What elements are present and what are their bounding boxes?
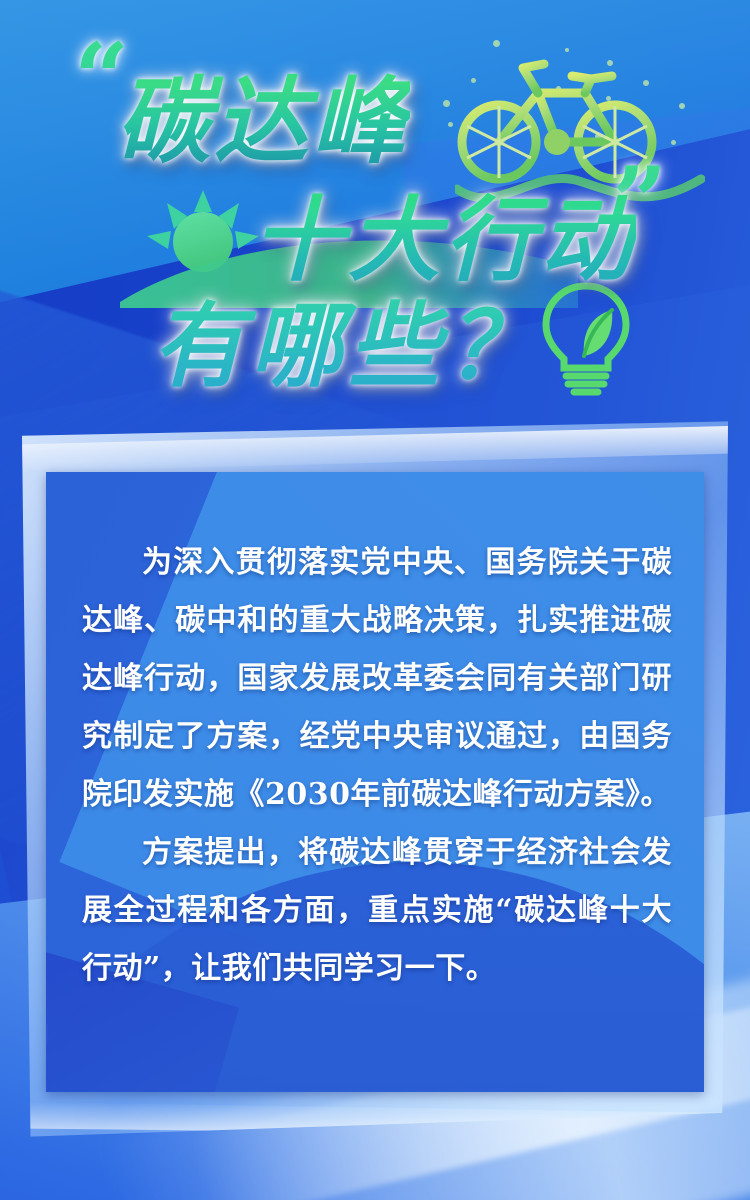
content-card: 为深入贯彻落实党中央、国务院关于碳达峰、碳中和的重大战略决策，扎实推进碳达峰行动… <box>22 420 728 1138</box>
card-bevel-shadow <box>22 1102 728 1136</box>
body-text-block: 为深入贯彻落实党中央、国务院关于碳达峰、碳中和的重大战略决策，扎实推进碳达峰行动… <box>82 534 672 998</box>
poster-header: “ ” 碳达峰 十大行动 有哪些？ <box>0 0 750 420</box>
card-bevel-highlight <box>22 426 728 472</box>
paragraph-2: 方案提出，将碳达峰贯穿于经济社会发展全过程和各方面，重点实施“碳达峰十大行动”，… <box>82 824 672 998</box>
paragraph-1: 为深入贯彻落实党中央、国务院关于碳达峰、碳中和的重大战略决策，扎实推进碳达峰行动… <box>82 534 672 824</box>
title-line-3: 有哪些？ <box>152 272 544 405</box>
poster-canvas: “ ” 碳达峰 十大行动 有哪些？ 为深入贯彻落实党中央、国务院关于碳达峰、碳中… <box>0 0 750 1200</box>
title-line-1: 碳达峰 <box>116 46 410 182</box>
card-inner-panel: 为深入贯彻落实党中央、国务院关于碳达峰、碳中和的重大战略决策，扎实推进碳达峰行动… <box>46 472 704 1092</box>
